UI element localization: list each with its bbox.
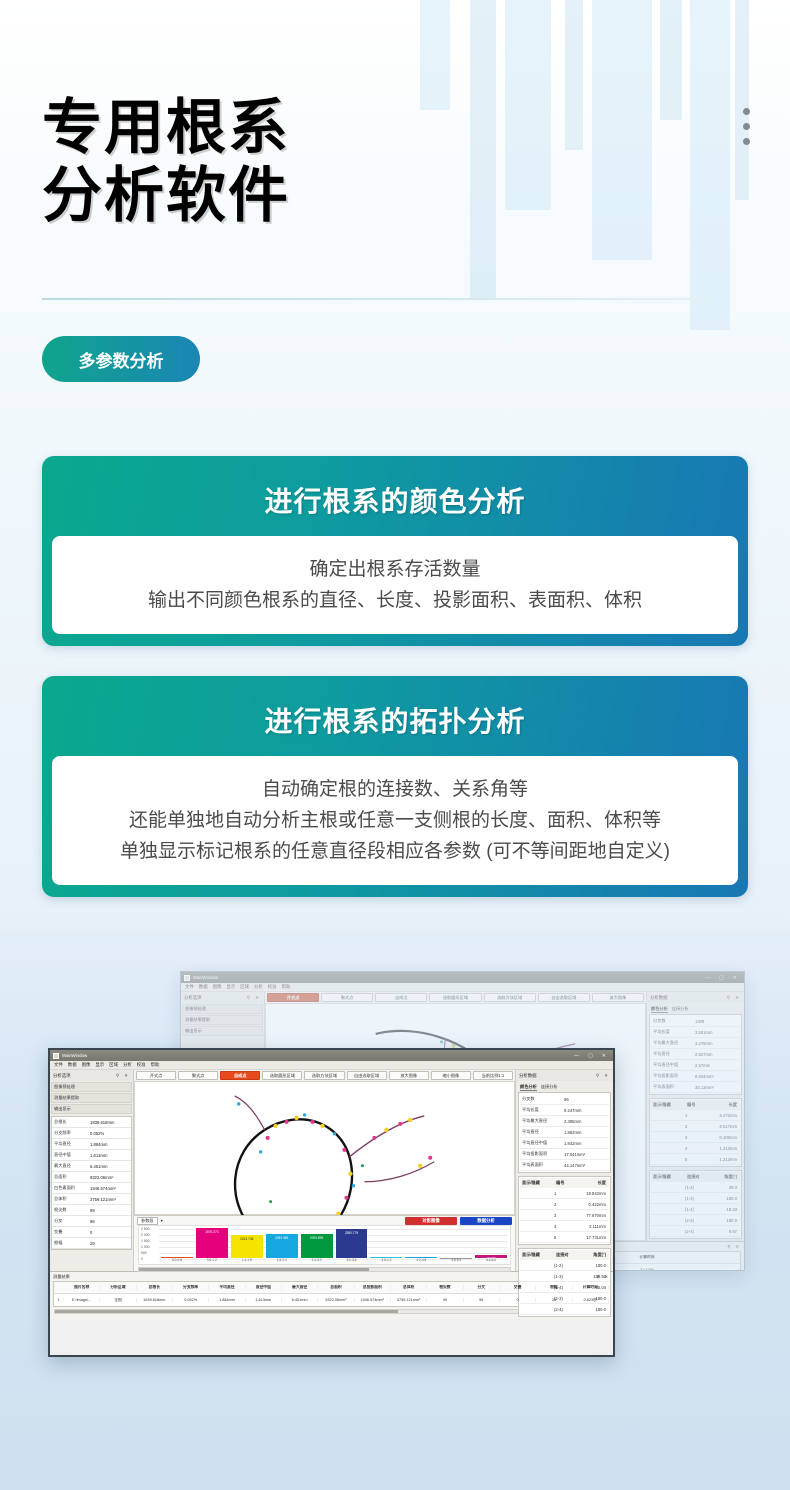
col-median-diam: 直径中值 [246, 1285, 282, 1290]
decor-stripe-1 [470, 0, 496, 300]
back-right-tabs[interactable]: 颜色分析 连接分析 [649, 1005, 742, 1014]
dot-2 [743, 123, 750, 130]
tab-cluster-point[interactable]: 聚式点 [321, 993, 373, 1002]
row-pair: (2-4) [685, 1229, 713, 1234]
col-pair: 连接对 [554, 1252, 582, 1258]
stat-row: 平均直径1.862mm [520, 1127, 609, 1138]
angle-table-header: 显示/隐藏 连接对 角度(°) [520, 1250, 609, 1260]
row-id: 4 [685, 1146, 713, 1151]
tab-color-analysis[interactable]: 颜色分析 [651, 1006, 668, 1013]
stat-key: 根幅 [52, 1240, 90, 1246]
feature-card-topology-analysis: 进行根系的拓扑分析 自动确定根的连接数、关系角等 还能单独地自动分析主根或任意一… [42, 676, 748, 897]
decor-stripe-6 [690, 0, 730, 330]
row-pair: (1-3) [554, 1274, 582, 1279]
horizontal-scrollbar[interactable] [138, 1267, 511, 1272]
back-tab-strip[interactable]: 开式点 聚式点 自成点 选取圆形区域 选取方块区域 自由选取区域 放大图像 [265, 992, 646, 1003]
x-tick: 4.8-5.4 [440, 1258, 472, 1264]
cell-branch-freq: 0.052% [173, 1298, 209, 1302]
stat-key: 平均直径中值 [651, 1062, 695, 1068]
tab-cluster-point[interactable]: 聚式点 [178, 1071, 218, 1080]
stat-key: 直径中值 [52, 1152, 90, 1158]
window-body: 图像预处理 测量结果提取 输出显示 总根长1839.618mm 分支频率0.05… [50, 1081, 613, 1271]
stat-row: 平均最大直径2.395mm [520, 1116, 609, 1127]
stat-value: 0 [90, 1230, 131, 1235]
col-length: 长度 [582, 1180, 609, 1186]
row-index: 1 [54, 1298, 64, 1302]
col-visibility: 显示/隐藏 [520, 1180, 554, 1186]
stat-key: 平均直径 [52, 1141, 90, 1147]
pin-icon[interactable]: ⚲ ✕ [596, 1274, 610, 1279]
stat-value: 1946.574mm² [90, 1186, 131, 1191]
card-line: 确定出根系存活数量 [66, 554, 724, 585]
stat-row: 总面积9322.06mm² [52, 1172, 131, 1183]
stat-key: 平均长度 [520, 1107, 564, 1113]
left-option-output[interactable]: 输出显示 [182, 1026, 263, 1036]
table-row: 51.213mm [651, 1154, 740, 1165]
decor-dots [743, 108, 750, 153]
table-row: (1-2)180.0 [520, 1260, 609, 1271]
cell-avg-diameter: 1.884mm [209, 1298, 245, 1302]
x-tick: 3.0-3.6 [336, 1258, 368, 1264]
maximize-icon[interactable]: ▢ [588, 1053, 593, 1059]
badge-multi-parameter: 多参数分析 [42, 336, 200, 382]
row-id: 2 [685, 1124, 713, 1129]
col-region: 分析区域 [100, 1285, 136, 1290]
decor-stripe-7 [735, 0, 749, 200]
chevron-down-icon[interactable]: ▾ [161, 1218, 163, 1223]
col-branch-freq: 分支频率 [173, 1285, 209, 1290]
back-window-controls[interactable]: — ▢ ✕ [705, 975, 741, 981]
stat-row: 平均长度3.551mm [651, 1027, 740, 1038]
stat-key: 交叠 [52, 1229, 90, 1235]
y-tick: 1 000 [141, 1245, 150, 1249]
menu-item-calib[interactable]: 校准 [137, 1062, 146, 1068]
card-title: 进行根系的颜色分析 [52, 466, 738, 536]
x-tick: 0.0-0.6 [161, 1258, 193, 1264]
bar: 2580.779 [336, 1229, 368, 1258]
table-row: 41.213mm [651, 1143, 740, 1154]
cell-max-diameter: 6.451mm [282, 1298, 318, 1302]
app-icon [184, 975, 190, 981]
left-stats-table: 总根长1839.618mm 分支频率0.052% 平均直径1.884mm 直径中… [51, 1116, 132, 1250]
stat-row: 交叠0 [52, 1227, 131, 1238]
table-row: 42.111mm [520, 1221, 609, 1232]
decor-stripe-4 [592, 0, 652, 260]
row-id: 5 [554, 1235, 582, 1240]
angle-table: 显示/隐藏 连接对 角度(°) (1-2)180.0 (1-3)136.92 (… [518, 1248, 611, 1317]
bar: 2676.373 [196, 1228, 228, 1258]
back-length-table: 显示/隐藏编号长度 15.272mm 28.517mm 30.406mm 41.… [649, 1098, 742, 1167]
menu-item-image[interactable]: 图像 [82, 1062, 91, 1068]
stat-row: 总根长1839.618mm [52, 1117, 131, 1128]
stat-value: 1839.618mm [90, 1120, 131, 1125]
menu-item-analyze[interactable]: 分析 [254, 984, 263, 990]
menu-item-calib[interactable]: 校准 [268, 984, 277, 990]
maximize-icon[interactable]: ▢ [719, 975, 724, 981]
row-length: 19.842mm [582, 1191, 609, 1196]
back-window-title: MainWindow [193, 975, 218, 980]
row-angle: 29.3 [713, 1185, 740, 1190]
menu-item-analyze[interactable]: 分析 [123, 1062, 132, 1068]
stat-key: 平均表面积 [651, 1084, 695, 1090]
tab-scale-ratio[interactable]: 当前比例1:1 [473, 1071, 513, 1080]
menu-item-help[interactable]: 帮助 [151, 1062, 160, 1068]
back-stats-box: 分叉数1309 平均长度3.551mm 平均最大直径3.278mm 平均直径2.… [649, 1014, 742, 1095]
cell-tip-count: 99 [427, 1298, 463, 1302]
bar: 2093.895 [301, 1234, 333, 1258]
cell-total-area: 9322.06mm² [318, 1298, 354, 1302]
left-option-extract[interactable]: 测量结果提取 [182, 1015, 263, 1025]
stat-row: 平均直径中值2.57mm [651, 1060, 740, 1071]
menu-item-file[interactable]: 文件 [185, 984, 194, 990]
back-right-panel: 颜色分析 连接分析 分叉数1309 平均长度3.551mm 平均最大直径3.27… [646, 1003, 744, 1241]
col-proj-area: 总投影面积 [355, 1285, 391, 1290]
stat-row: 白色素面积1946.574mm² [52, 1183, 131, 1194]
table-row: (1-4)18.43 [651, 1204, 740, 1215]
cell-median-diam: 1.613mm [246, 1298, 282, 1302]
menubar[interactable]: 文件 数据 图像 显示 区域 分析 校准 帮助 [50, 1061, 613, 1070]
stat-row: 直径中值1.613mm [52, 1150, 131, 1161]
tab-strip[interactable]: 开式点 聚式点 自成点 选取圆形区域 选取方块区域 自由选取区域 放大图像 缩小… [134, 1070, 515, 1081]
cell-root-width: 29 [536, 1298, 572, 1302]
close-icon[interactable]: ✕ [733, 975, 737, 981]
bar-label: 2013.748 [240, 1235, 253, 1241]
col-angle: 角度(°) [582, 1252, 609, 1258]
cell-proj-area: 1946.574mm² [355, 1298, 391, 1302]
stat-key: 分支频率 [52, 1130, 90, 1136]
row-angle: 180.0 [582, 1263, 609, 1268]
row-angle: 180.0 [582, 1307, 609, 1312]
minimize-icon[interactable]: — [574, 1053, 579, 1059]
stat-key: 平均最大直径 [651, 1040, 695, 1046]
length-table: 显示/隐藏 编号 长度 119.842mm 20.422mm 377.670mm… [518, 1176, 611, 1245]
col-forks: 分叉 [464, 1285, 500, 1290]
col-length: 长度 [713, 1102, 740, 1108]
tab-select-circle[interactable]: 选取圆形区域 [429, 993, 481, 1002]
x-axis-labels: 0.0-0.6 0.6-1.2 1.2-1.8 1.8-2.4 2.4-3.0 … [161, 1258, 507, 1264]
tab-select-free[interactable]: 自由选取区域 [538, 993, 590, 1002]
right-panel-header: 分析数据 ⚲ ✕ [515, 1070, 613, 1081]
row-length: 0.422mm [582, 1202, 609, 1207]
tab-auto-point[interactable]: 自成点 [220, 1071, 260, 1080]
left-panel: 图像预处理 测量结果提取 输出显示 总根长1839.618mm 分支频率0.05… [50, 1081, 134, 1271]
row-id: 2 [554, 1202, 582, 1207]
menu-item-display[interactable]: 显示 [226, 984, 235, 990]
right-panel-tabs[interactable]: 颜色分析 连接分析 [518, 1083, 611, 1092]
back-left-panel-header: 分析选项 ⚲ ✕ [181, 992, 265, 1003]
tab-zoom-out[interactable]: 缩小图像 [431, 1071, 471, 1080]
stat-key: 平均直径中值 [520, 1140, 564, 1146]
left-panel-header: 分析选项 ⚲ ✕ [50, 1070, 134, 1081]
card-line: 自动确定根的连接数、关系角等 [66, 774, 724, 805]
parameter-select[interactable]: 参数段 [137, 1217, 158, 1225]
row-id: 1 [554, 1191, 582, 1196]
stat-value: 29 [90, 1241, 131, 1246]
stat-key: 平均表面积 [520, 1162, 564, 1168]
row-length: 5.272mm [713, 1113, 740, 1118]
panel-title: 分析数据 [650, 995, 668, 1001]
menu-item-data[interactable]: 数据 [68, 1062, 77, 1068]
tab-color-analysis[interactable]: 颜色分析 [520, 1084, 537, 1091]
col-angle: 角度(°) [713, 1174, 740, 1180]
pin-icon[interactable]: ⚲ ✕ [247, 995, 261, 1001]
dot-1 [743, 108, 750, 115]
cell-forks: 96 [464, 1298, 500, 1302]
row-length: 8.517mm [713, 1124, 740, 1129]
bar: 2013.748 [231, 1235, 263, 1258]
stat-value: 96 [90, 1219, 131, 1224]
tab-open-point[interactable]: 开式点 [267, 993, 319, 1002]
tab-select-rect[interactable]: 选取方块区域 [304, 1071, 344, 1080]
col-pair: 连接对 [685, 1174, 713, 1180]
stat-row: 根尖数99 [52, 1205, 131, 1216]
menu-item-file[interactable]: 文件 [54, 1062, 63, 1068]
bar: 2053.369 [266, 1234, 298, 1258]
menu-item-region[interactable]: 区域 [240, 984, 249, 990]
stat-value: 1.884mm [90, 1142, 131, 1147]
stat-value: 30.13mm² [695, 1085, 740, 1090]
tab-zoom-in[interactable]: 放大图像 [592, 993, 644, 1002]
x-tick: 2.4-3.0 [301, 1258, 333, 1264]
row-pair: (1-4) [685, 1207, 713, 1212]
row-length: 17.731mm [582, 1235, 609, 1240]
hero-line-2: 分析软件 [42, 161, 290, 231]
stat-value: 1.613mm [90, 1153, 131, 1158]
bar-label: 2676.373 [205, 1228, 218, 1234]
left-option-output[interactable]: 输出显示 [51, 1104, 132, 1114]
stat-row: 分叉96 [52, 1216, 131, 1227]
menu-item-help[interactable]: 帮助 [282, 984, 291, 990]
stat-key: 白色素面积 [52, 1185, 90, 1191]
data-analysis-button[interactable]: 数据分析 [460, 1217, 512, 1225]
row-pair: (2-3) [685, 1218, 713, 1223]
back-menubar[interactable]: 文件 数据 图像 显示 区域 分析 校准 帮助 [181, 983, 744, 992]
table-row: 377.670mm [520, 1210, 609, 1221]
table-row: 28.517mm [651, 1121, 740, 1132]
back-angle-table: 显示/隐藏连接对角度(°) (1-2)29.3 (1-3)180.0 (1-4)… [649, 1170, 742, 1239]
stat-value: 44.147mm² [564, 1163, 609, 1168]
projection-image-button[interactable]: 对影图像 [405, 1217, 457, 1225]
row-pair: (1-2) [685, 1185, 713, 1190]
y-tick: 0 [141, 1257, 143, 1261]
decor-stripe-2 [505, 0, 551, 210]
stat-value: 8.934mm² [695, 1074, 740, 1079]
col-visibility: 显示/隐藏 [651, 1174, 685, 1180]
col-image-name: 图片名称 [64, 1285, 100, 1290]
stat-row: 分支频率0.052% [52, 1128, 131, 1139]
row-id: 4 [554, 1224, 582, 1229]
stat-value: 3.551mm [695, 1030, 740, 1035]
row-id: 5 [685, 1157, 713, 1162]
bar-label: 2580.779 [345, 1229, 358, 1235]
minimize-icon[interactable]: — [705, 975, 710, 981]
hero-divider [42, 298, 708, 300]
table-row: (1-3)180.0 [651, 1193, 740, 1204]
stat-key: 根尖数 [52, 1207, 90, 1213]
col-id: 编号 [554, 1180, 582, 1186]
panel-title: 分析选项 [53, 1073, 71, 1079]
stat-row: 平均表面积44.147mm² [520, 1160, 609, 1171]
card-line: 单独显示标记根系的任意直径段相应各参数 (可不等间距地自定义) [66, 836, 724, 867]
stat-row: 平均投影面积8.934mm² [651, 1071, 740, 1082]
decor-stripe-5 [660, 0, 682, 120]
tab-open-point[interactable]: 开式点 [136, 1071, 176, 1080]
stat-value: 9.247mm [564, 1108, 609, 1113]
stat-key: 分叉数 [651, 1018, 695, 1024]
pin-icon[interactable]: ⚲ ✕ [727, 995, 741, 1001]
tab-select-free[interactable]: 自由选取区域 [347, 1071, 387, 1080]
back-right-panel-header: 分析数据 ⚲ ✕ [646, 992, 744, 1003]
stat-key: 平均最大直径 [520, 1118, 564, 1124]
stat-key: 分叉 [52, 1218, 90, 1224]
root-image-canvas[interactable] [134, 1081, 515, 1215]
stat-key: 平均投影面积 [520, 1151, 564, 1157]
menu-item-data[interactable]: 数据 [199, 984, 208, 990]
stat-value: 96 [564, 1097, 609, 1102]
row-angle: 180.0 [713, 1196, 740, 1201]
menu-item-display[interactable]: 显示 [95, 1062, 104, 1068]
left-option-preprocess[interactable]: 图像预处理 [51, 1082, 132, 1092]
row-angle: 180.0 [713, 1218, 740, 1223]
panel-title: 分析数据 [519, 1073, 537, 1079]
card-line: 还能单独地自动分析主根或任意一支侧根的长度、面积、体积等 [66, 805, 724, 836]
angle-table-header: 显示/隐藏连接对角度(°) [651, 1172, 740, 1182]
chart-toolbar: 参数段 ▾ 对影图像 数据分析 [134, 1216, 515, 1225]
stat-value: 1309 [695, 1019, 740, 1024]
row-id: 3 [554, 1213, 582, 1218]
row-angle: 18.43 [713, 1207, 740, 1212]
col-visibility: 显示/隐藏 [651, 1102, 685, 1108]
y-tick: 1 500 [141, 1239, 150, 1243]
cell-total-length: 1839.618mm [137, 1298, 173, 1302]
menu-item-region[interactable]: 区域 [109, 1062, 118, 1068]
pin-icon[interactable]: ⚲ ✕ [596, 1073, 610, 1079]
bar-label: 2053.369 [275, 1234, 288, 1240]
right-panel: 颜色分析 连接分析 分叉数96 平均长度9.247mm 平均最大直径2.395m… [515, 1081, 613, 1271]
bar-label: 2093.895 [310, 1234, 323, 1240]
stat-value: 1.842mm [564, 1141, 609, 1146]
stat-value: 3.278mm [695, 1041, 740, 1046]
cell-image-name: E:/image/... [64, 1298, 100, 1302]
table-row: 119.842mm [520, 1188, 609, 1199]
row-length: 77.670mm [582, 1213, 609, 1218]
software-screenshot-group: MainWindow — ▢ ✕ 文件 数据 图像 显示 区域 分析 校准 帮助… [0, 955, 790, 1415]
right-stats-box: 分叉数96 平均长度9.247mm 平均最大直径2.395mm 平均直径1.86… [518, 1092, 611, 1173]
tab-connect-analysis[interactable]: 连接分析 [541, 1084, 558, 1091]
stat-row: 平均最大直径3.278mm [651, 1038, 740, 1049]
stat-row: 平均投影面积17.041mm² [520, 1149, 609, 1160]
histogram-panel: 参数段 ▾ 对影图像 数据分析 2 500 2 000 1 500 1 000 … [134, 1215, 515, 1271]
length-table-header: 显示/隐藏 编号 长度 [520, 1178, 609, 1188]
y-tick: 2 500 [141, 1227, 150, 1231]
pin-icon[interactable]: ⚲ ✕ [116, 1073, 130, 1079]
card-body: 确定出根系存活数量 输出不同颜色根系的直径、长度、投影面积、表面积、体积 [52, 536, 738, 634]
stat-value: 1.862mm [564, 1130, 609, 1135]
col-calc-time: 计算时间 [573, 1285, 609, 1290]
tab-auto-point[interactable]: 自成点 [375, 993, 427, 1002]
menu-item-image[interactable]: 图像 [213, 984, 222, 990]
stat-row: 平均直径2.627mm [651, 1049, 740, 1060]
row-angle: 9.87 [713, 1229, 740, 1234]
stat-row: 平均长度9.247mm [520, 1105, 609, 1116]
col-total-length: 总根长 [137, 1285, 173, 1290]
row-length: 1.213mm [713, 1146, 740, 1151]
tab-connect-analysis[interactable]: 连接分析 [672, 1006, 689, 1013]
col-id: 编号 [685, 1102, 713, 1108]
table-row: 517.731mm [520, 1232, 609, 1243]
table-row: (2-3)180.0 [651, 1215, 740, 1226]
col-tip-count: 根尖数 [427, 1285, 463, 1290]
panel-title: 分析选项 [184, 995, 202, 1001]
row-pair: (2-4) [554, 1307, 582, 1312]
row-pair: (1-3) [685, 1196, 713, 1201]
pin-icon[interactable]: ⚲ ✕ [727, 1244, 741, 1249]
length-table-header: 显示/隐藏编号长度 [651, 1100, 740, 1110]
window-title: MainWindow [62, 1053, 87, 1058]
col-avg-diameter: 平均直径 [209, 1285, 245, 1290]
col-total-volume: 总体积 [391, 1285, 427, 1290]
stat-value: 3759.121mm³ [90, 1197, 131, 1202]
stat-value: 0.052% [90, 1131, 131, 1136]
card-body: 自动确定根的连接数、关系角等 还能单独地自动分析主根或任意一支侧根的长度、面积、… [52, 756, 738, 885]
tab-select-rect[interactable]: 选取方块区域 [484, 993, 536, 1002]
tab-zoom-in[interactable]: 放大图像 [389, 1071, 429, 1080]
cell-calc-time: 0.623秒 [573, 1298, 609, 1303]
col-root-width: 根幅 [536, 1285, 572, 1290]
page-title: 专用根系 分析软件 [42, 94, 290, 230]
card-line: 输出不同颜色根系的直径、长度、投影面积、表面积、体积 [66, 585, 724, 616]
cell-total-volume: 3759.121mm³ [391, 1298, 427, 1302]
tab-select-circle[interactable]: 选取圆形区域 [262, 1071, 302, 1080]
stat-key: 最大直径 [52, 1163, 90, 1169]
stat-key: 分叉数 [520, 1096, 564, 1102]
left-option-extract[interactable]: 测量结果提取 [51, 1093, 132, 1103]
x-tick: 5.4-6.0 [475, 1258, 507, 1264]
table-row: 30.406mm [651, 1132, 740, 1143]
stat-row: 平均表面积30.13mm² [651, 1082, 740, 1093]
main-app-window[interactable]: MainWindow — ▢ ✕ 文件 数据 图像 显示 区域 分析 校准 帮助… [48, 1048, 615, 1357]
table-row: 15.272mm [651, 1110, 740, 1121]
left-option-preprocess[interactable]: 图像预处理 [182, 1004, 263, 1014]
stat-row: 最大直径6.451mm [52, 1161, 131, 1172]
back-toolbar: 分析选项 ⚲ ✕ 开式点 聚式点 自成点 选取圆形区域 选取方块区域 自由选取区… [181, 992, 744, 1003]
table-row: 20.422mm [520, 1199, 609, 1210]
stat-row: 分叉数96 [520, 1094, 609, 1105]
window-controls[interactable]: — ▢ ✕ [574, 1053, 610, 1059]
hero-line-1: 专用根系 [42, 93, 290, 163]
col-total-area: 总面积 [318, 1285, 354, 1290]
app-icon [53, 1053, 59, 1059]
stat-value: 2.57mm [695, 1063, 740, 1068]
stat-key: 总体积 [52, 1196, 90, 1202]
stat-value: 2.627mm [695, 1052, 740, 1057]
x-tick: 0.6-1.2 [196, 1258, 228, 1264]
cell-region: 全图 [100, 1298, 136, 1303]
y-tick: 500 [141, 1251, 147, 1255]
row-length: 1.213mm [713, 1157, 740, 1162]
feature-card-color-analysis: 进行根系的颜色分析 确定出根系存活数量 输出不同颜色根系的直径、长度、投影面积、… [42, 456, 748, 646]
x-tick: 1.2-1.8 [231, 1258, 263, 1264]
row-length: 0.406mm [713, 1135, 740, 1140]
row-length: 2.111mm [582, 1224, 609, 1229]
stat-key: 平均投影面积 [651, 1073, 695, 1079]
x-tick: 3.6-4.2 [370, 1258, 402, 1264]
stat-row: 总体积3759.121mm³ [52, 1194, 131, 1205]
col-visibility: 显示/隐藏 [520, 1252, 554, 1258]
panel-title: 测量结果 [53, 1274, 70, 1280]
close-icon[interactable]: ✕ [602, 1053, 606, 1059]
decor-stripe-3 [565, 0, 583, 150]
